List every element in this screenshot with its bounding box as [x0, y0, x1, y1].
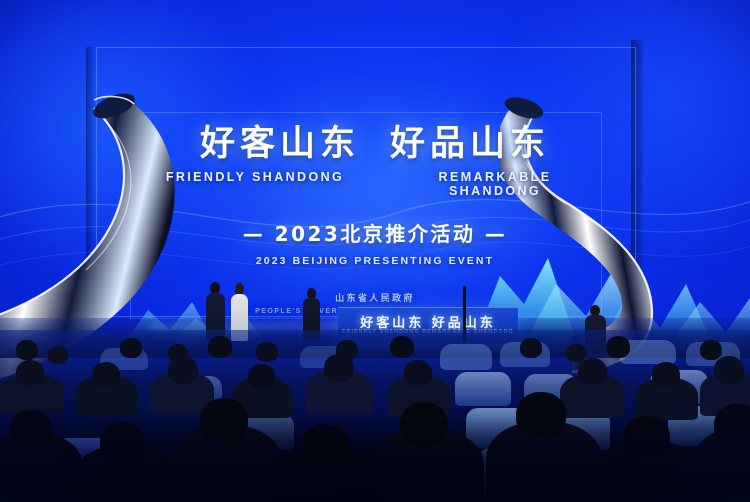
scene-vignette	[0, 0, 750, 502]
event-photo-scene: 好客山东 好品山东 FRIENDLY SHANDONG REMARKABLE S…	[0, 0, 750, 502]
